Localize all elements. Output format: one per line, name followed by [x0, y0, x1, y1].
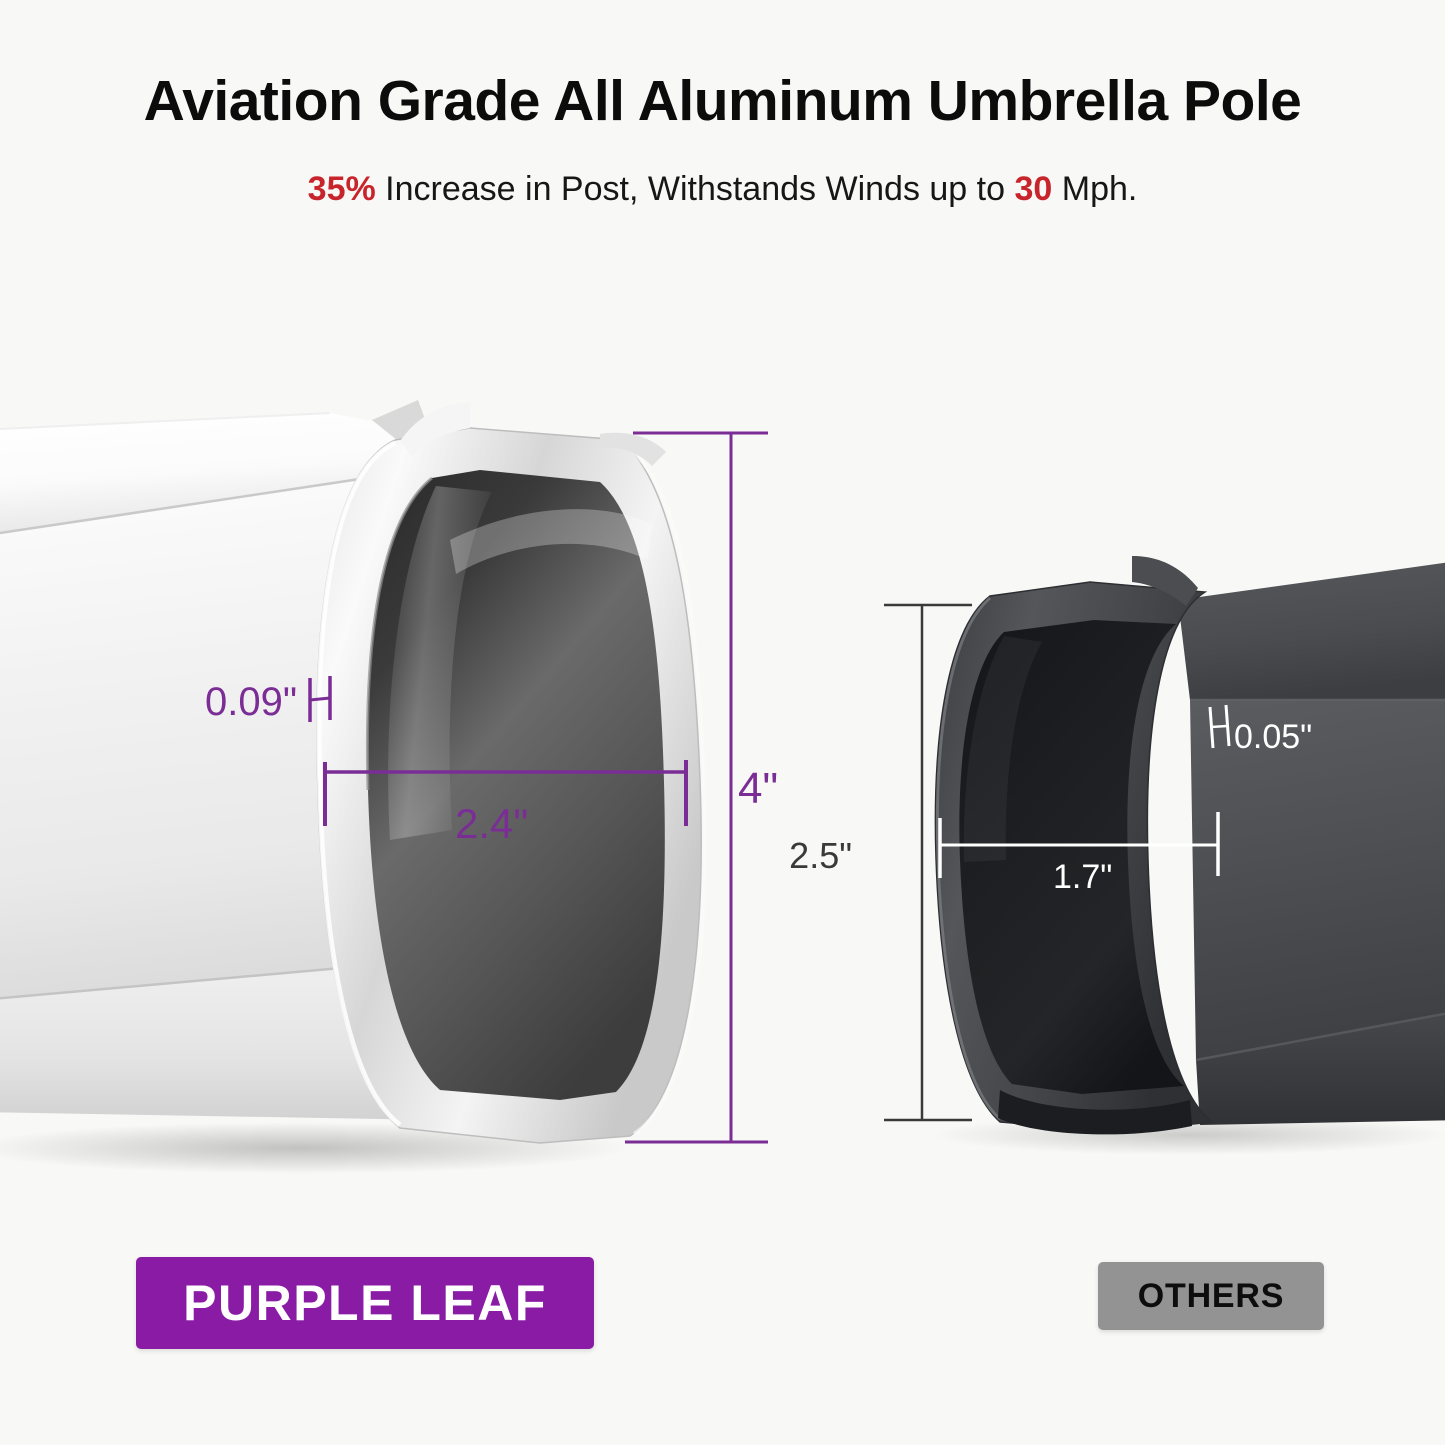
pole-rim-highlight-right [628, 446, 705, 1134]
others-body-top-facet [1178, 560, 1445, 700]
dimension-wall-thickness-0point05in [1210, 705, 1229, 748]
label-inner-width-left: 2.4" [455, 800, 528, 847]
label-wall-thickness-left: 0.09" [205, 680, 297, 724]
others-body-lower-facet [1196, 1010, 1445, 1125]
badge-purple-leaf: PURPLE LEAF [136, 1257, 594, 1349]
badge-others: OTHERS [1098, 1262, 1324, 1330]
subtitle-mid-text: Increase in Post, Withstands Winds up to [385, 170, 1005, 208]
stat-increase-value: 35% [308, 170, 376, 208]
dimension-inner-width-1point7in [940, 812, 1218, 878]
pole-body-lower-facet [0, 960, 437, 1120]
pole-cavity-edge [367, 478, 432, 790]
others-rim-highlight [937, 598, 1000, 1119]
pole-outer-rim [317, 428, 701, 1143]
subtitle: 35% Increase in Post, Withstands Winds u… [0, 132, 1445, 209]
others-rim-notch-top [1132, 556, 1198, 606]
dimension-outer-height-4in [625, 433, 768, 1142]
pole-cavity-sheen [388, 486, 492, 840]
purple-leaf-dimensions [310, 433, 768, 1142]
stat-wind-value: 30 [1014, 170, 1052, 208]
others-pole-illustration [930, 556, 1445, 1155]
pole-ridge-line-upper [0, 470, 420, 536]
others-outer-rim [935, 582, 1212, 1132]
label-inner-width-right: 1.7" [1053, 858, 1112, 896]
pole-ridge-line-lower [0, 960, 432, 1000]
pole-rim-notch-top [400, 402, 470, 456]
pole-cavity-top-reflection [450, 509, 652, 574]
subtitle-tail-text: Mph. [1062, 170, 1138, 208]
product-comparison-infographic: Aviation Grade All Aluminum Umbrella Pol… [0, 0, 1445, 1445]
page-title: Aviation Grade All Aluminum Umbrella Pol… [0, 0, 1445, 132]
others-body-main-facet [1190, 700, 1445, 1060]
label-outer-height-right: 2.5" [789, 835, 852, 876]
comparison-illustration: 0.09" 2.4" 4" [0, 0, 1445, 1445]
dimension-wall-thickness-0point09in [310, 676, 330, 722]
dimension-outer-height-2point5in [884, 605, 972, 1120]
dimension-inner-width-2point4in [325, 760, 686, 826]
others-cavity-sheen [964, 636, 1042, 862]
others-inner-cavity [959, 620, 1184, 1094]
others-rim-foot-channel [998, 1090, 1192, 1134]
label-outer-height-left: 4" [738, 764, 778, 813]
purple-leaf-dimension-labels: 0.09" 2.4" 4" [205, 680, 778, 847]
pole-body-main-facet [0, 470, 432, 1000]
pole-rim-notch-top-right [600, 433, 666, 466]
pole-inner-cavity [367, 470, 664, 1100]
others-dimensions [884, 605, 1229, 1120]
pole-body-top-facet [0, 413, 430, 536]
header: Aviation Grade All Aluminum Umbrella Pol… [0, 0, 1445, 209]
purple-leaf-pole-illustration [0, 400, 705, 1174]
pole-flange-tip [372, 400, 432, 452]
label-wall-thickness-right: 0.05" [1234, 718, 1312, 756]
others-ridge-line-lower [1196, 1010, 1445, 1060]
pole-rim-highlight-left [319, 443, 400, 1125]
others-dimension-labels: 2.5" 1.7" 0.05" [789, 718, 1312, 896]
pole-edge-highlight [0, 413, 330, 430]
